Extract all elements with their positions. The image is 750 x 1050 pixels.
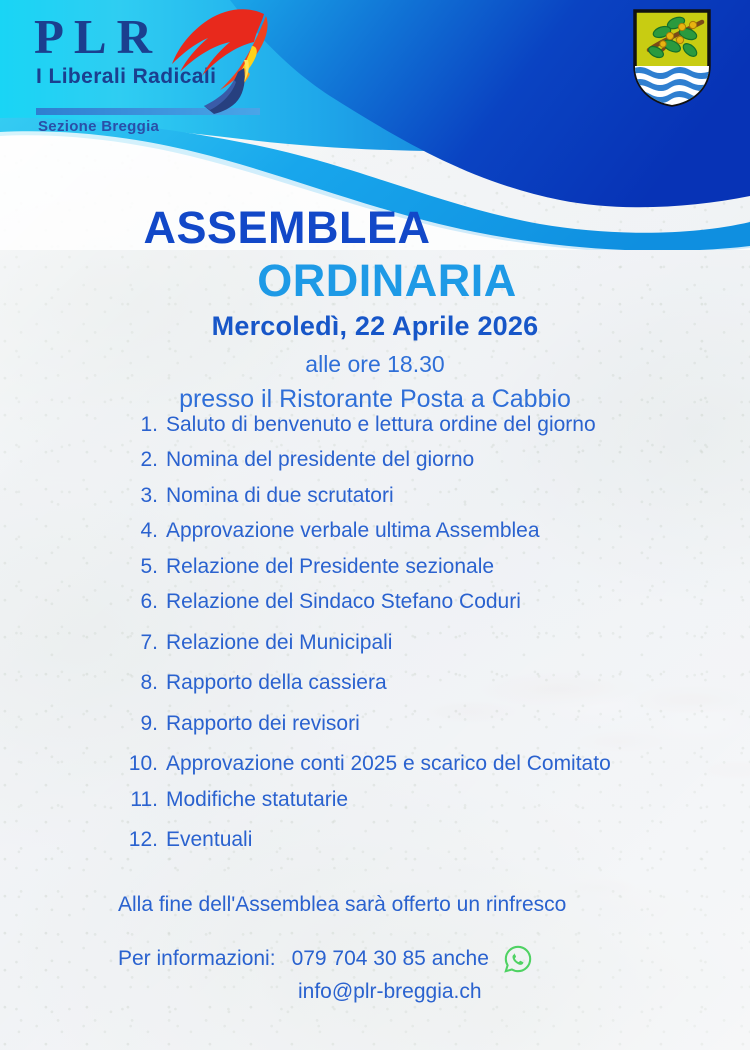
- agenda-item-number: 9.: [112, 712, 166, 736]
- section-label: Sezione Breggia: [38, 118, 159, 135]
- title-ordinaria: ORDINARIA: [0, 258, 750, 303]
- agenda-item: 1. Saluto di benvenuto e lettura ordine …: [112, 412, 712, 438]
- agenda-item-text: Nomina del presidente del giorno: [166, 447, 712, 473]
- agenda-item-number: 7.: [112, 631, 166, 655]
- agenda-item: 12. Eventuali: [112, 827, 712, 853]
- agenda-item-text: Modifiche statutarie: [166, 787, 712, 813]
- agenda-item-number: 8.: [112, 671, 166, 695]
- agenda-item: 11. Modifiche statutarie: [112, 787, 712, 813]
- whatsapp-icon[interactable]: [503, 944, 533, 974]
- agenda-item-text: Eventuali: [166, 827, 712, 853]
- agenda-item-number: 4.: [112, 519, 166, 543]
- poster-canvas: PLR I Liberali Radicali Sezione Breggia: [0, 0, 750, 1050]
- event-venue: presso il Ristorante Posta a Cabbio: [0, 387, 750, 412]
- title-block: ASSEMBLEA ORDINARIA Mercoledì, 22 Aprile…: [0, 205, 750, 412]
- contact-email[interactable]: info@plr-breggia.ch: [298, 980, 738, 1004]
- agenda-item: 4. Approvazione verbale ultima Assemblea: [112, 518, 712, 544]
- agenda-item-number: 2.: [112, 448, 166, 472]
- agenda-item-number: 3.: [112, 484, 166, 508]
- agenda-item: 7. Relazione dei Municipali: [112, 630, 712, 656]
- breggia-coat-of-arms-icon: [630, 8, 714, 108]
- title-assemblea: ASSEMBLEA: [0, 205, 750, 250]
- agenda-item: 3. Nomina di due scrutatori: [112, 483, 712, 509]
- agenda-list: 1. Saluto di benvenuto e lettura ordine …: [112, 412, 712, 862]
- contact-block: Per informazioni: 079 704 30 85 anche in…: [118, 944, 738, 1004]
- contact-label: Per informazioni:: [118, 947, 276, 971]
- agenda-item-text: Relazione del Sindaco Stefano Coduri: [166, 589, 712, 615]
- agenda-item: 8. Rapporto della cassiera: [112, 670, 712, 696]
- agenda-item-text: Rapporto dei revisori: [166, 711, 712, 737]
- refreshment-note: Alla fine dell'Assemblea sarà offerto un…: [118, 893, 738, 917]
- agenda-item-number: 6.: [112, 590, 166, 614]
- agenda-item-number: 5.: [112, 555, 166, 579]
- agenda-item-number: 12.: [112, 828, 166, 852]
- agenda-item-text: Saluto di benvenuto e lettura ordine del…: [166, 412, 712, 438]
- torch-icon: [152, 2, 282, 122]
- agenda-item: 10. Approvazione conti 2025 e scarico de…: [112, 751, 712, 777]
- event-date: Mercoledì, 22 Aprile 2026: [0, 313, 750, 340]
- event-time: alle ore 18.30: [0, 353, 750, 376]
- agenda-item-text: Approvazione conti 2025 e scarico del Co…: [166, 751, 712, 777]
- agenda-item-number: 1.: [112, 413, 166, 437]
- agenda-item-text: Approvazione verbale ultima Assemblea: [166, 518, 712, 544]
- agenda-item-text: Nomina di due scrutatori: [166, 483, 712, 509]
- agenda-item-text: Relazione del Presidente sezionale: [166, 554, 712, 580]
- agenda-item: 6. Relazione del Sindaco Stefano Coduri: [112, 589, 712, 615]
- agenda-item-text: Rapporto della cassiera: [166, 670, 712, 696]
- agenda-item-text: Relazione dei Municipali: [166, 630, 712, 656]
- agenda-item: 2. Nomina del presidente del giorno: [112, 447, 712, 473]
- agenda-item-number: 11.: [112, 788, 166, 812]
- agenda-item: 5. Relazione del Presidente sezionale: [112, 554, 712, 580]
- agenda-item-number: 10.: [112, 752, 166, 776]
- agenda-item: 9. Rapporto dei revisori: [112, 711, 712, 737]
- contact-phone[interactable]: 079 704 30 85 anche: [292, 947, 489, 971]
